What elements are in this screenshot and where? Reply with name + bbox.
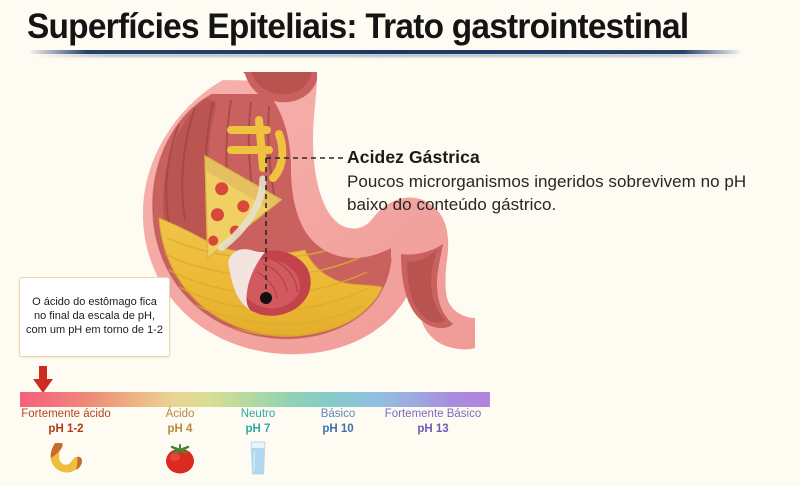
page-title: Superfícies Epiteliais: Trato gastrointe…	[27, 7, 688, 47]
title-block: Superfícies Epiteliais: Trato gastrointe…	[0, 0, 800, 62]
ph-item-strongly-acid: Fortemente ácido pH 1-2	[6, 408, 126, 477]
ph-item-label: Fortemente Básico	[368, 408, 498, 421]
ph-item-value: pH 1-2	[6, 422, 126, 436]
annotation-body: Poucos microrganismos ingeridos sobreviv…	[347, 171, 767, 216]
title-underline	[30, 50, 740, 54]
ph-item-neutral: Neutro pH 7	[218, 408, 298, 477]
ph-callout-text: O ácido do estômago fica no final da esc…	[20, 296, 169, 338]
ph-item-value: pH 7	[218, 422, 298, 436]
ph-item-label: Básico	[298, 408, 378, 421]
slide-canvas: Superfícies Epiteliais: Trato gastrointe…	[0, 0, 800, 486]
ph-item-strongly-basic: Fortemente Básico pH 13	[368, 408, 498, 437]
tomato-icon	[140, 441, 220, 477]
annotation-heading: Acidez Gástrica	[347, 147, 767, 168]
title-underline-shadow	[34, 54, 740, 57]
ph-item-value: pH 4	[140, 422, 220, 436]
ph-item-label: Fortemente ácido	[6, 408, 126, 421]
ph-gradient-bar	[20, 392, 490, 407]
ph-item-value: pH 10	[298, 422, 378, 436]
ph-item-value: pH 13	[368, 422, 498, 436]
stomach-icon	[6, 441, 126, 477]
ph-item-label: Neutro	[218, 408, 298, 421]
ph-item-label: Ácido	[140, 408, 220, 421]
red-down-arrow	[31, 366, 55, 394]
ph-item-basic: Básico pH 10	[298, 408, 378, 437]
water-glass-icon	[218, 441, 298, 477]
annotation-block: Acidez Gástrica Poucos microrganismos in…	[347, 147, 767, 216]
ph-callout-box: O ácido do estômago fica no final da esc…	[19, 277, 170, 357]
ph-item-acid: Ácido pH 4	[140, 408, 220, 477]
ph-legend: Fortemente ácido pH 1-2 Ácido pH 4	[0, 408, 800, 486]
